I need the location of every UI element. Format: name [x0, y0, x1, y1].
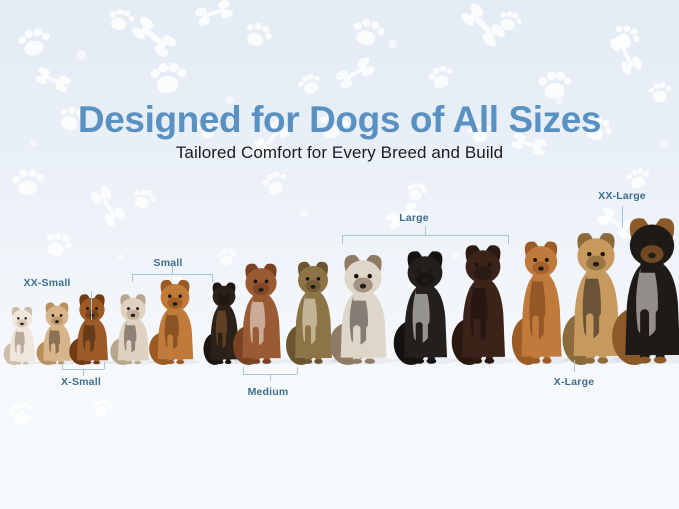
- size-label-xx-large: XX-Large: [598, 190, 646, 202]
- bracket-tick: [622, 206, 623, 228]
- size-group-xx-large: XX-Large: [0, 0, 679, 509]
- hero-image: Designed for Dogs of All Sizes Tailored …: [0, 0, 679, 509]
